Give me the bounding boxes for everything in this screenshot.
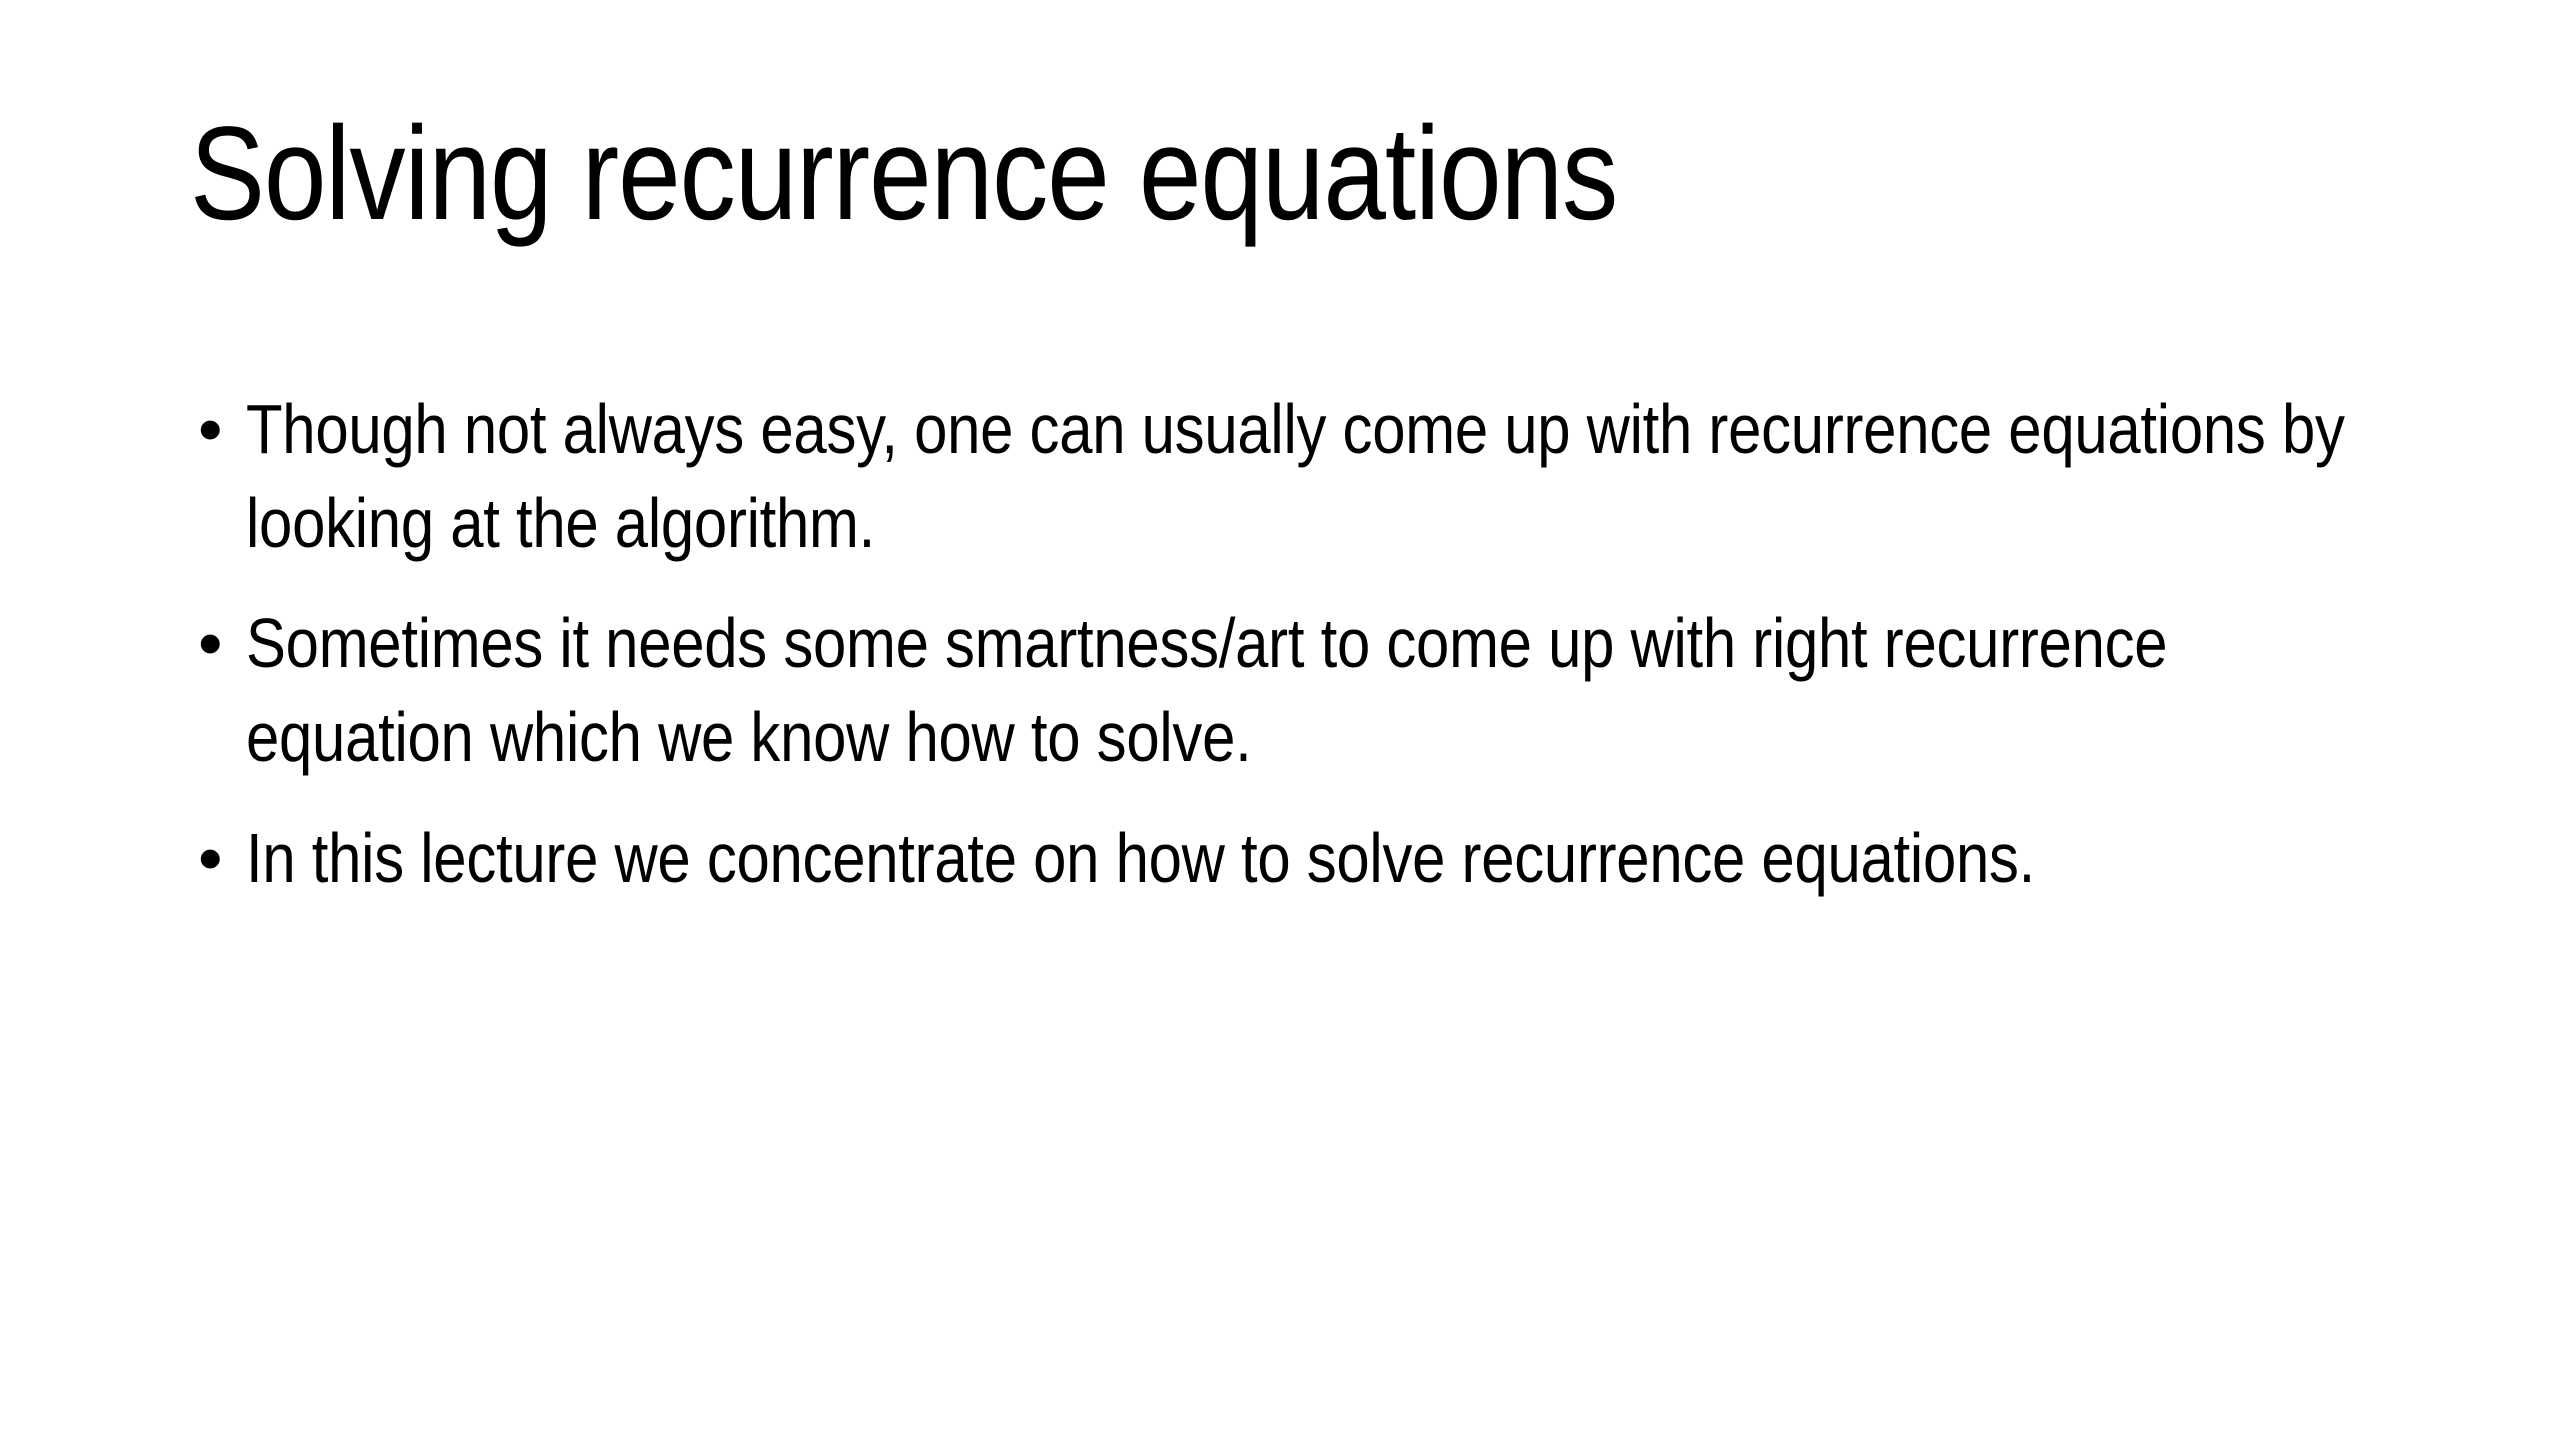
list-item-text: In this lecture we concentrate on how to… <box>246 811 2391 905</box>
list-item: • Sometimes it needs some smartness/art … <box>190 596 2390 784</box>
bullet-list: • Though not always easy, one can usuall… <box>190 382 2390 905</box>
slide-body-placeholder: • Though not always easy, one can usuall… <box>190 382 2390 905</box>
list-item: • Though not always easy, one can usuall… <box>190 382 2390 570</box>
slide-title-placeholder: Solving recurrence equations <box>190 105 2370 285</box>
list-item-text: Though not always easy, one can usually … <box>246 382 2391 570</box>
bullet-point-icon: • <box>198 382 238 476</box>
page-title: Solving recurrence equations <box>190 105 2032 243</box>
list-item-text: Sometimes it needs some smartness/art to… <box>246 596 2391 784</box>
bullet-point-icon: • <box>198 596 238 690</box>
list-item: • In this lecture we concentrate on how … <box>190 811 2390 905</box>
presentation-slide: Solving recurrence equations • Though no… <box>0 0 2560 1440</box>
bullet-point-icon: • <box>198 811 238 905</box>
